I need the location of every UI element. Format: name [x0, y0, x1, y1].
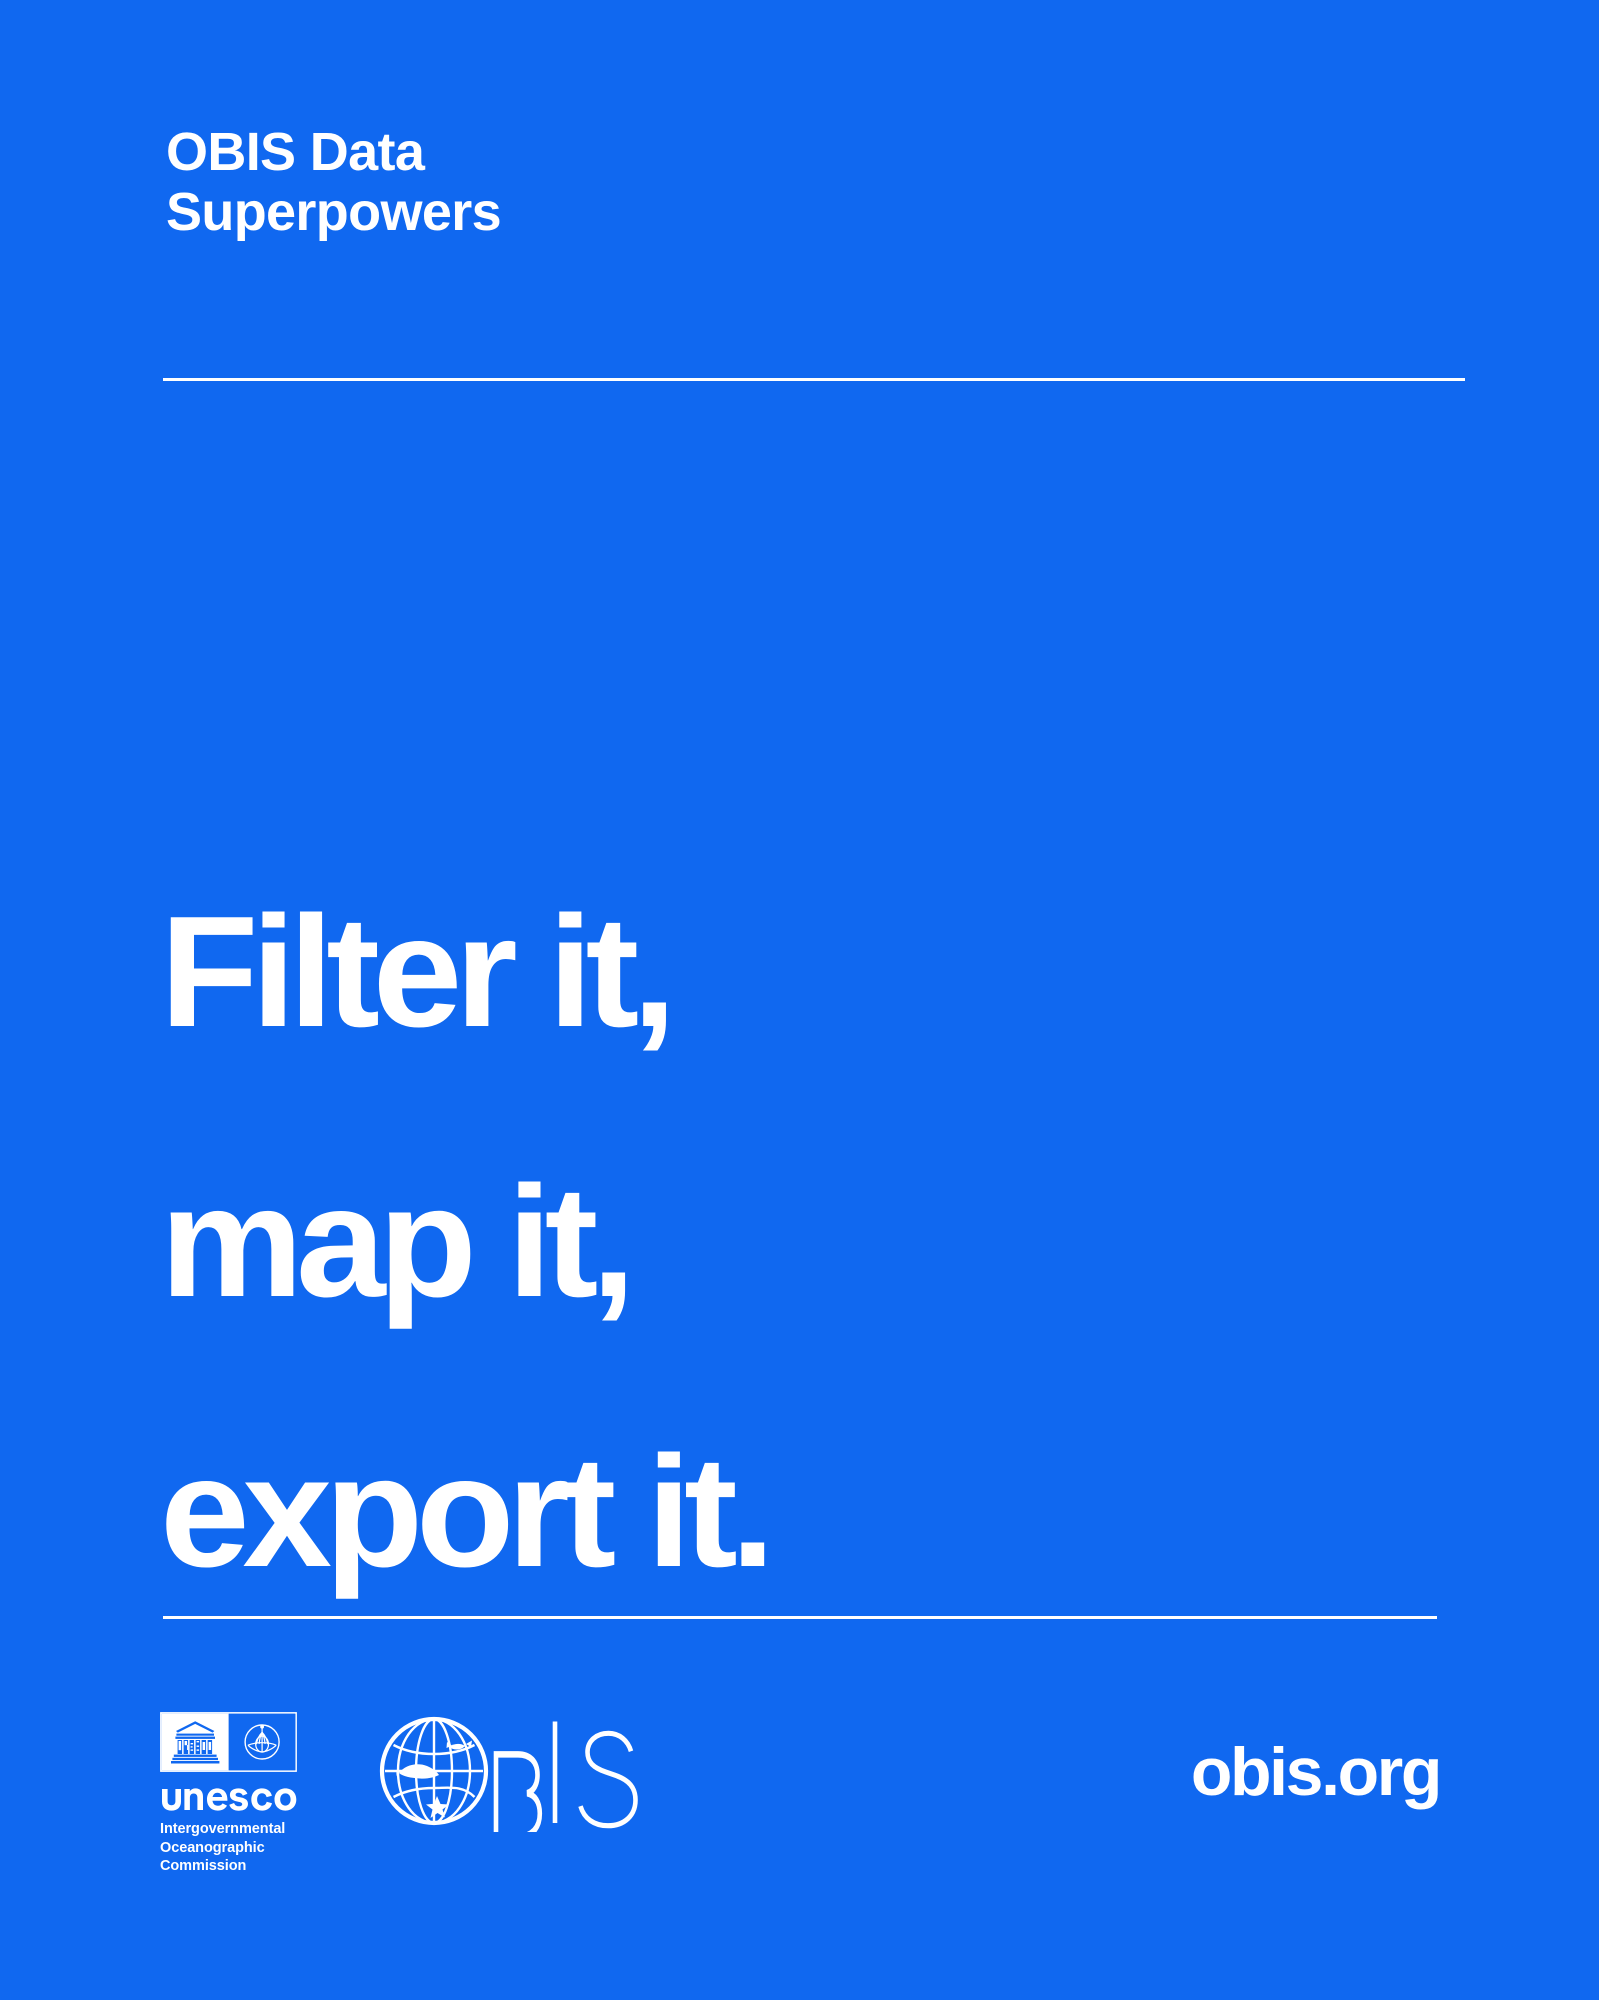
footer: Intergovernmental Oceanographic Commissi… [0, 1690, 1599, 2000]
unesco-wordmark [160, 1780, 299, 1811]
headline-line-3: export it. [160, 1445, 1466, 1580]
obis-logo [375, 1710, 640, 1832]
page-title: OBIS Data Superpowers [166, 122, 1066, 243]
headline-line-2: map it, [160, 1175, 1466, 1310]
ioc-commission-label: Intergovernmental Oceanographic Commissi… [160, 1820, 390, 1876]
unesco-lockup: Intergovernmental Oceanographic Commissi… [160, 1712, 390, 1876]
divider-bottom [163, 1616, 1437, 1619]
unesco-emblem-icon [160, 1712, 297, 1772]
headline-line-1: Filter it, [160, 905, 1466, 1040]
obis-url-label[interactable]: obis.org [1191, 1738, 1440, 1806]
poster-canvas: OBIS Data Superpowers Filter it, map it,… [0, 0, 1599, 2000]
divider-top [163, 378, 1465, 381]
headline: Filter it, map it, export it. [160, 770, 1466, 1716]
